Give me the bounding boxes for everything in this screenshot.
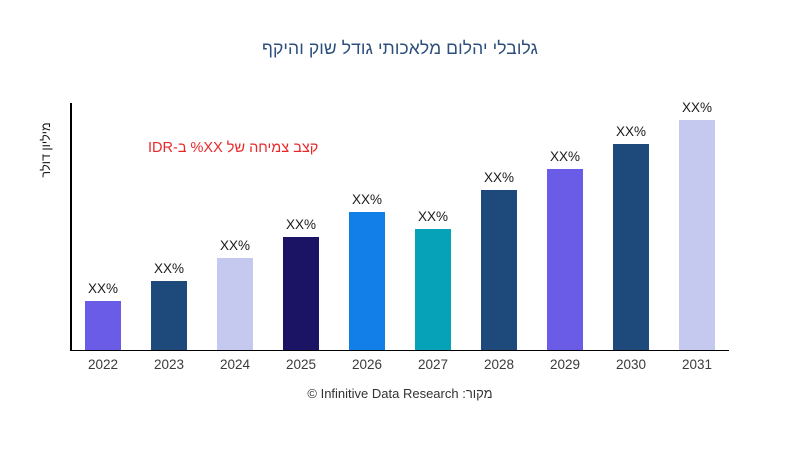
bar[interactable] <box>415 229 451 350</box>
bar-group[interactable]: XX% <box>269 100 333 350</box>
x-tick-label: 2024 <box>203 357 267 372</box>
bar-value-label: XX% <box>467 170 531 185</box>
x-tick-label: 2031 <box>665 357 729 372</box>
bar[interactable] <box>283 237 319 350</box>
x-tick-label: 2025 <box>269 357 333 372</box>
bar-group[interactable]: XX% <box>599 100 663 350</box>
bar[interactable] <box>613 144 649 350</box>
bar-group[interactable]: XX% <box>71 100 135 350</box>
bar-value-label: XX% <box>665 100 729 115</box>
bar-group[interactable]: XX% <box>533 100 597 350</box>
bar-group[interactable]: XX% <box>401 100 465 350</box>
bar-value-label: XX% <box>533 149 597 164</box>
chart-container: גלובלי יהלום מלאכותי גודל שוק והיקף מילי… <box>0 0 800 450</box>
x-tick-label: 2026 <box>335 357 399 372</box>
bars-layer: XX%2022XX%2023XX%2024XX%2025XX%2026XX%20… <box>0 0 800 450</box>
bar-value-label: XX% <box>269 217 333 232</box>
bar-value-label: XX% <box>335 192 399 207</box>
source-note: מקור: Infinitive Data Research © <box>0 386 800 401</box>
bar-group[interactable]: XX% <box>665 100 729 350</box>
bar[interactable] <box>85 301 121 350</box>
bar-group[interactable]: XX% <box>137 100 201 350</box>
bar-value-label: XX% <box>71 281 135 296</box>
bar[interactable] <box>217 258 253 350</box>
x-tick-label: 2023 <box>137 357 201 372</box>
x-tick-label: 2029 <box>533 357 597 372</box>
bar-value-label: XX% <box>203 238 267 253</box>
bar[interactable] <box>481 190 517 350</box>
x-tick-label: 2027 <box>401 357 465 372</box>
bar-value-label: XX% <box>401 209 465 224</box>
x-tick-label: 2022 <box>71 357 135 372</box>
bar-group[interactable]: XX% <box>335 100 399 350</box>
bar[interactable] <box>679 120 715 350</box>
bar[interactable] <box>349 212 385 350</box>
bar[interactable] <box>151 281 187 350</box>
x-tick-label: 2028 <box>467 357 531 372</box>
bar-group[interactable]: XX% <box>467 100 531 350</box>
x-tick-label: 2030 <box>599 357 663 372</box>
bar-value-label: XX% <box>599 124 663 139</box>
bar-group[interactable]: XX% <box>203 100 267 350</box>
bar[interactable] <box>547 169 583 350</box>
bar-value-label: XX% <box>137 261 201 276</box>
